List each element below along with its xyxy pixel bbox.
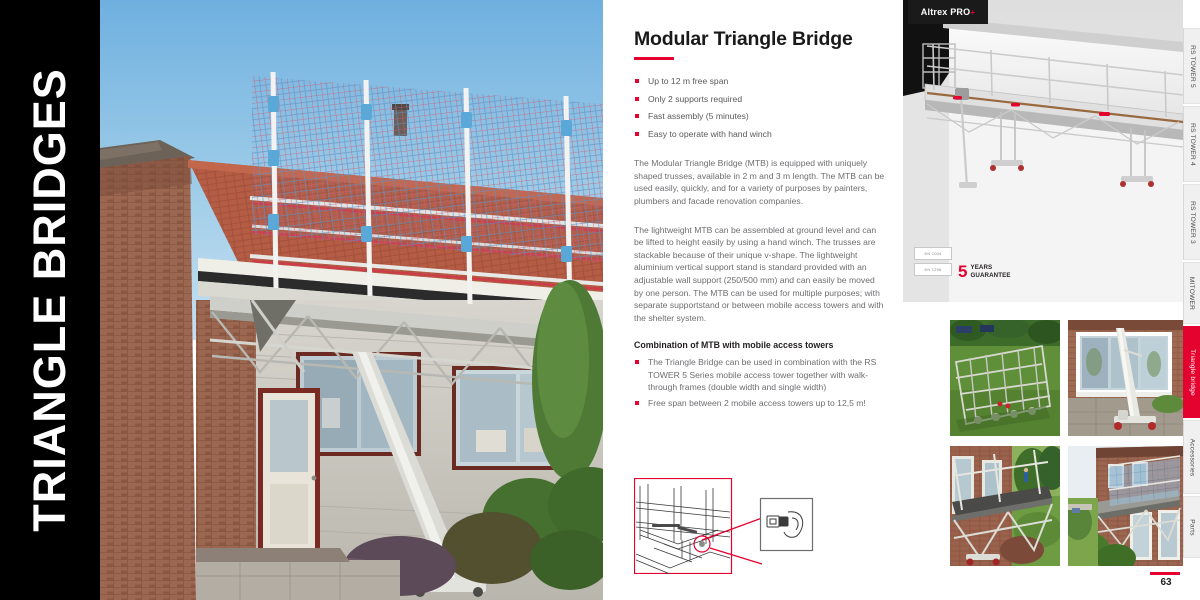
guarantee-badge: 5 YEARS GUARANTEE xyxy=(958,263,1011,280)
description-paragraph-1: The Modular Triangle Bridge (MTB) is equ… xyxy=(634,157,886,207)
product-photo-grid xyxy=(950,320,1183,576)
cert-box-en1298: EN 1298 xyxy=(914,263,952,276)
guarantee-number: 5 xyxy=(958,263,967,280)
feature-item: Fast assembly (5 minutes) xyxy=(634,109,886,123)
certification-marks: EN 1004 EN 1298 xyxy=(914,247,952,279)
page-number-value: 63 xyxy=(1150,577,1182,588)
tab-accessories-label: Accessories xyxy=(1189,438,1196,476)
tab-rs-tower-5[interactable]: RS TOWER 5 xyxy=(1183,28,1200,104)
altrex-pro-label: Altrex PRO xyxy=(921,7,971,17)
tab-triangle-bridge[interactable]: Triangle bridge xyxy=(1183,326,1200,418)
tab-parts[interactable]: Parts xyxy=(1183,496,1200,558)
category-tab-rail: RS TOWER 5 RS TOWER 4 RS TOWER 3 MITOWER… xyxy=(1183,0,1200,600)
combination-item: Free span between 2 mobile access towers… xyxy=(634,397,886,409)
subsection-heading: Combination of MTB with mobile access to… xyxy=(634,340,886,350)
page-title: Modular Triangle Bridge xyxy=(634,28,886,51)
cert-box-en1004: EN 1004 xyxy=(914,247,952,260)
page-number: 63 xyxy=(1150,572,1182,588)
title-underline xyxy=(634,57,674,60)
hero-photo xyxy=(100,0,603,600)
photo-trusses-on-grass[interactable] xyxy=(950,320,1060,436)
combination-item: The Triangle Bridge can be used in combi… xyxy=(634,356,886,393)
page-number-rule xyxy=(1150,572,1180,575)
coupling-diagram xyxy=(634,478,820,574)
photo-support-stand-window-graphic xyxy=(1068,320,1183,436)
feature-item: Up to 12 m free span xyxy=(634,74,886,88)
combination-list: The Triangle Bridge can be used in combi… xyxy=(634,356,886,409)
article-column: Modular Triangle Bridge Up to 12 m free … xyxy=(634,0,886,600)
photo-bridge-along-facade-graphic xyxy=(950,446,1060,566)
photo-support-stand-window[interactable] xyxy=(1068,320,1183,436)
tab-mitower[interactable]: MITOWER xyxy=(1183,262,1200,324)
catalog-page: TRIANGLE BRIDGES xyxy=(0,0,1200,600)
tab-rs-tower-5-label: RS TOWER 5 xyxy=(1189,45,1196,88)
photo-trusses-on-grass-graphic xyxy=(950,320,1060,436)
description-paragraph-2: The lightweight MTB can be assembled at … xyxy=(634,224,886,325)
tab-rs-tower-3[interactable]: RS TOWER 3 xyxy=(1183,184,1200,260)
guarantee-guarantee-label: GUARANTEE xyxy=(970,272,1010,280)
plus-icon: + xyxy=(970,8,975,17)
tab-accessories[interactable]: Accessories xyxy=(1183,420,1200,494)
tab-rs-tower-4[interactable]: RS TOWER 4 xyxy=(1183,106,1200,182)
tab-triangle-bridge-label: Triangle bridge xyxy=(1189,349,1196,396)
feature-item: Only 2 supports required xyxy=(634,92,886,106)
tab-mitower-label: MITOWER xyxy=(1189,276,1196,309)
feature-item: Easy to operate with hand winch xyxy=(634,127,886,141)
section-banner-label: TRIANGLE BRIDGES xyxy=(24,68,76,532)
tab-rs-tower-3-label: RS TOWER 3 xyxy=(1189,201,1196,244)
guarantee-years-label: YEARS xyxy=(970,264,1010,272)
section-banner: TRIANGLE BRIDGES xyxy=(0,0,100,600)
photo-bridge-along-facade[interactable] xyxy=(950,446,1060,566)
hero-photo-graphic xyxy=(100,0,603,600)
photo-bridge-with-netting[interactable] xyxy=(1068,446,1183,566)
coupling-diagram-graphic xyxy=(634,478,820,574)
altrex-pro-badge: Altrex PRO+ xyxy=(908,0,988,24)
photo-bridge-with-netting-graphic xyxy=(1068,446,1183,566)
feature-list: Up to 12 m free span Only 2 supports req… xyxy=(634,74,886,141)
tab-rs-tower-4-label: RS TOWER 4 xyxy=(1189,123,1196,166)
tab-parts-label: Parts xyxy=(1189,519,1196,535)
